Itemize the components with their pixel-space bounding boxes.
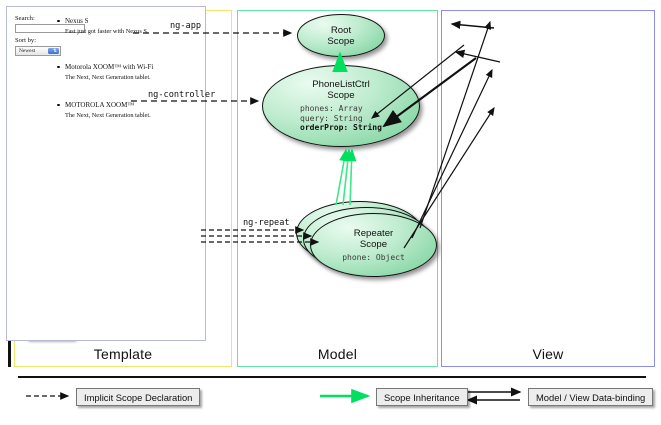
bullet-icon (57, 66, 60, 69)
phone-snippet: The Next, Next Generation tablet. (65, 112, 151, 119)
property-orderprop: orderProp: String (300, 123, 382, 133)
search-label: Search: (15, 15, 35, 22)
legend-scope-inheritance: Scope Inheritance (376, 388, 468, 406)
bullet-icon (57, 104, 60, 107)
label-ng-controller: ng-controller (148, 90, 215, 100)
scope-phonelistctrl-properties: phones: Array query: String orderProp: S… (300, 104, 382, 133)
legend-implicit-scope: Implicit Scope Declaration (76, 388, 200, 406)
sort-select[interactable]: Newest ⇅ (15, 46, 61, 56)
diagram-stage: Template <html ng-app> <body ng-controll… (0, 0, 661, 425)
legend-divider (18, 376, 646, 378)
scope-phonelistctrl-title: PhoneListCtrl Scope (312, 79, 370, 101)
sort-select-value: Newest (16, 48, 35, 54)
property-phone: phone: Object (342, 253, 405, 263)
scope-root-title: Root Scope (327, 25, 354, 47)
chevron-updown-icon: ⇅ (48, 48, 59, 54)
panel-label-view: View (442, 346, 654, 362)
label-ng-repeat: ng-repeat (243, 218, 290, 228)
panel-view: View (441, 10, 655, 367)
scope-repeater: Repeater Scope phone: Object (310, 213, 437, 277)
property-query: query: String (300, 114, 382, 124)
phone-name[interactable]: Nexus S (65, 17, 89, 25)
panel-label-model: Model (238, 346, 437, 362)
scope-phonelistctrl: PhoneListCtrl Scope phones: Array query:… (262, 65, 420, 147)
panel-label-template: Template (15, 346, 231, 362)
sort-label: Sort by: (15, 37, 36, 44)
label-ng-app: ng-app (170, 21, 201, 31)
legend-data-binding: Model / View Data-binding (528, 388, 653, 406)
scope-repeater-title: Repeater Scope (354, 228, 393, 250)
view-app-mock: Search: Sort by: Newest ⇅ Nexus S Fast j… (6, 6, 206, 341)
bullet-icon (57, 20, 60, 23)
scope-repeater-properties: phone: Object (342, 253, 405, 263)
phone-snippet: Fast just got faster with Nexus S. (65, 28, 148, 35)
phone-name[interactable]: Motorola XOOM™ with Wi-Fi (65, 63, 153, 71)
property-phones: phones: Array (300, 104, 382, 114)
scope-root: Root Scope (297, 14, 385, 57)
phone-snippet: The Next, Next Generation tablet. (65, 74, 151, 81)
panel-model: Model (237, 10, 438, 367)
phone-name[interactable]: MOTOROLA XOOM™ (65, 101, 134, 109)
